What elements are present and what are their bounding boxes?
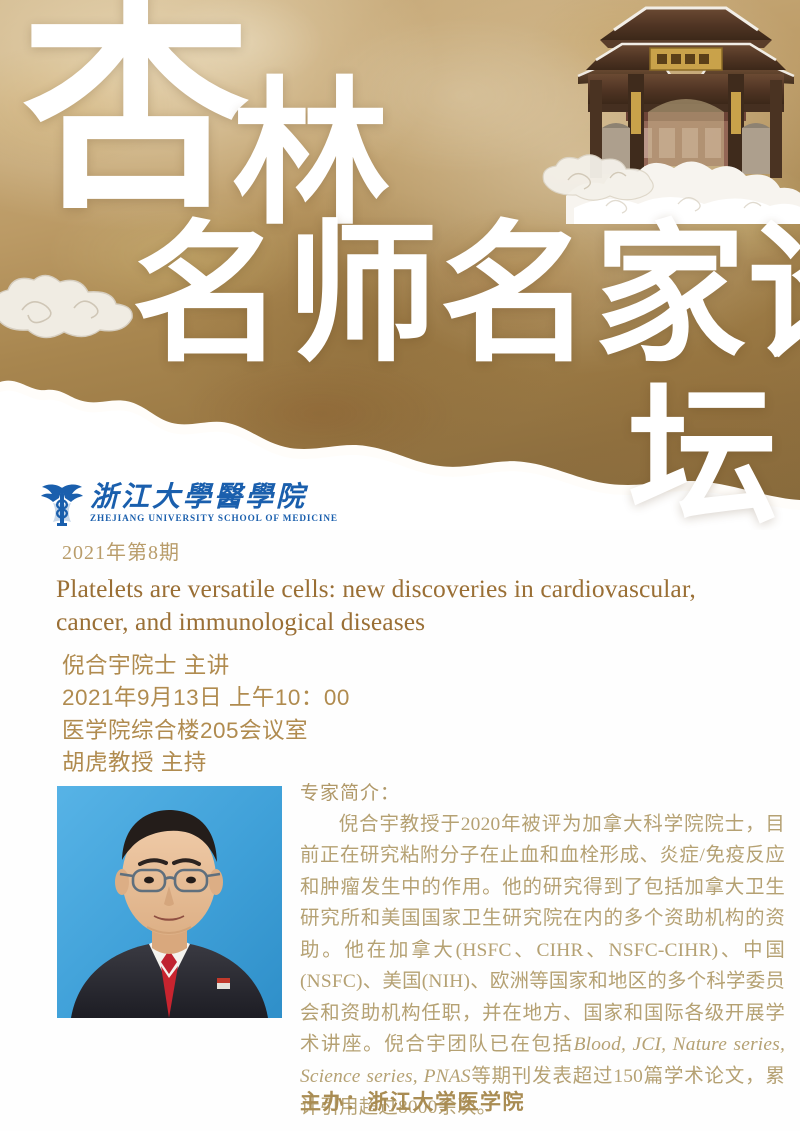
issue-label: 2021年第8期 [62, 536, 180, 565]
speaker-bio-block: 专家简介： 倪合宇教授于2020年被评为加拿大科学院院士，目前正在研究粘附分子在… [300, 778, 785, 1123]
speaker-portrait-image [57, 786, 282, 1018]
zju-som-logo: 浙江大學醫學院 ZHEJIANG UNIVERSITY SCHOOL OF ME… [40, 482, 338, 528]
bio-heading: 专家简介： [300, 778, 785, 805]
info-line-moderator: 胡虎教授 主持 [62, 747, 350, 779]
bio-part-1: 倪合宇教授于2020年被评为加拿大科学院院士，目前正在研究粘附分子在止血和血栓形… [300, 814, 785, 1055]
poster-header-banner: 杏 林 名师名家论 坛 [0, 0, 800, 530]
poster-root: 杏 林 名师名家论 坛 浙江大學醫學院 ZHEJIANG UNIVE [0, 0, 800, 1131]
calligraphy-char-tan: 坛 [628, 382, 780, 530]
organizer-label: 主办：浙江大学医学院 [300, 1086, 525, 1116]
info-line-venue: 医学院综合楼205会议室 [62, 715, 350, 747]
info-line-speaker: 倪合宇院士 主讲 [62, 650, 350, 682]
logo-english-name: ZHEJIANG UNIVERSITY SCHOOL OF MEDICINE [90, 513, 338, 523]
lecture-english-title: Platelets are versatile cells: new disco… [56, 572, 756, 638]
speaker-portrait [57, 786, 282, 1018]
caduceus-wings-emblem-icon [40, 482, 84, 528]
logo-text-block: 浙江大學醫學院 ZHEJIANG UNIVERSITY SCHOOL OF ME… [90, 482, 338, 523]
lecture-info-block: 倪合宇院士 主讲 2021年9月13日 上午10：00 医学院综合楼205会议室… [62, 650, 350, 780]
info-line-datetime: 2021年9月13日 上午10：00 [62, 682, 350, 714]
bio-body: 倪合宇教授于2020年被评为加拿大科学院院士，目前正在研究粘附分子在止血和血栓形… [300, 809, 785, 1123]
logo-chinese-name: 浙江大學醫學院 [90, 482, 338, 511]
